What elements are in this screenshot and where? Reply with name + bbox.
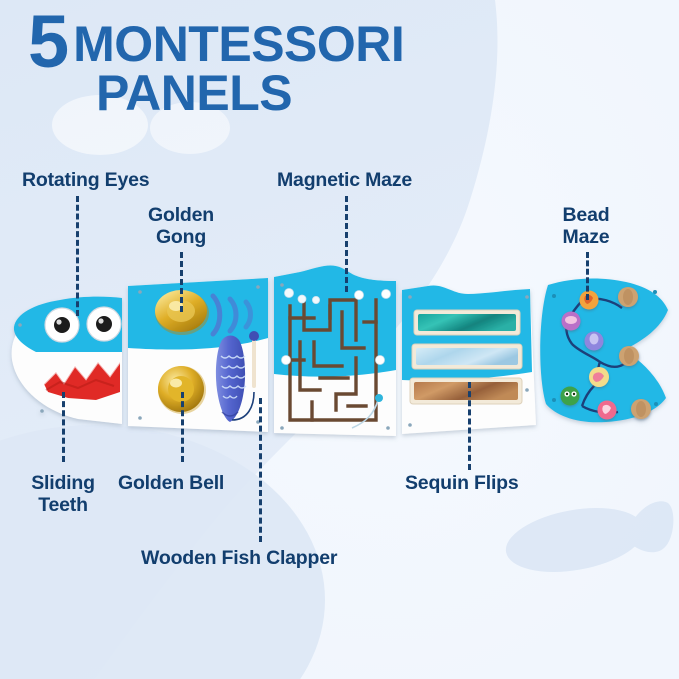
callout-golden-gong-line1: Golden xyxy=(140,205,222,227)
infographic-canvas: 5MONTESSORI PANELS xyxy=(0,0,679,679)
maze-panel[interactable] xyxy=(274,265,396,436)
leader-line-magnetic-maze xyxy=(345,196,348,292)
screw-dot xyxy=(552,398,556,402)
callout-golden-bell: Golden Bell xyxy=(118,473,224,495)
callout-bead-maze-line2: Maze xyxy=(546,227,626,249)
leader-line-wooden-fish-clapper xyxy=(259,398,262,542)
tail-panel[interactable] xyxy=(540,278,668,422)
leader-line-golden-bell xyxy=(181,392,184,462)
callout-golden-gong: Golden Gong xyxy=(140,205,222,249)
screw-dot xyxy=(552,294,556,298)
screw-dot xyxy=(18,323,22,327)
screw-dot xyxy=(256,285,260,289)
silver-sequin-strip[interactable] xyxy=(412,344,522,369)
screw-dot xyxy=(525,295,529,299)
screw-dot xyxy=(386,426,390,430)
callout-rotating-eyes: Rotating Eyes xyxy=(22,170,149,192)
screw-dot xyxy=(653,290,657,294)
gong-panel[interactable] xyxy=(128,278,268,432)
screw-dot xyxy=(138,416,142,420)
leader-line-sequin-flips xyxy=(468,382,471,470)
head-panel[interactable] xyxy=(12,297,122,424)
screw-dot xyxy=(40,409,44,413)
leader-line-golden-gong xyxy=(180,252,183,312)
callout-bead-maze: Bead Maze xyxy=(546,205,626,249)
callout-golden-gong-line2: Gong xyxy=(140,227,222,249)
callout-bead-maze-line1: Bead xyxy=(546,205,626,227)
leader-line-rotating-eyes xyxy=(76,196,79,316)
teal-sequin-strip[interactable] xyxy=(414,310,520,335)
screw-dot xyxy=(654,402,658,406)
screw-dot xyxy=(280,426,284,430)
callout-magnetic-maze: Magnetic Maze xyxy=(277,170,412,192)
callout-wooden-fish-clapper: Wooden Fish Clapper xyxy=(141,548,337,570)
screw-dot xyxy=(138,290,142,294)
callout-sequin-flips: Sequin Flips xyxy=(405,473,519,495)
copper-sequin-strip[interactable] xyxy=(410,378,522,404)
screw-dot xyxy=(525,388,529,392)
fish-wall-panel-illustration xyxy=(0,0,679,679)
screw-dot xyxy=(408,295,412,299)
leader-line-sliding-teeth xyxy=(62,392,65,462)
callout-sliding-teeth: Sliding Teeth xyxy=(18,473,108,517)
callout-sliding-teeth-line1: Sliding xyxy=(18,473,108,495)
screw-dot xyxy=(280,283,284,287)
callout-sliding-teeth-line2: Teeth xyxy=(18,495,108,517)
leader-line-bead-maze xyxy=(586,252,589,300)
screw-dot xyxy=(408,423,412,427)
